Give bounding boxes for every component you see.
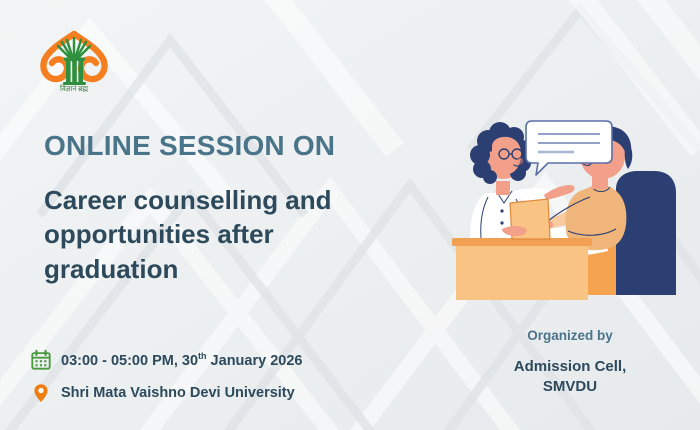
logo-motto: विज्ञानं ब्रह्म [60,84,88,92]
poster-canvas: विज्ञानं ब्रह्म ONLINE SESSION ON Career… [0,0,700,430]
event-venue: Shri Mata Vaishno Devi University [61,385,295,401]
event-datetime-suffix: January 2026 [207,352,303,368]
location-pin-icon [30,382,52,404]
event-datetime-prefix: 03:00 - 05:00 PM, 30 [61,352,198,368]
desk-shape [452,238,592,300]
event-date-ordinal: th [198,351,207,361]
armchair-shape [616,171,676,295]
career-counselling-illustration [440,105,690,310]
event-venue-row: Shri Mata Vaishno Devi University [30,379,302,406]
organizer-name-line1: Admission Cell, [430,357,700,377]
organizer-block: Organized by Admission Cell, SMVDU [430,328,700,398]
organizer-name-line2: SMVDU [430,377,700,397]
event-datetime: 03:00 - 05:00 PM, 30th January 2026 [61,351,302,369]
event-datetime-row: 03:00 - 05:00 PM, 30th January 2026 [30,346,302,373]
page-title: Career counselling and opportunities aft… [44,183,384,286]
organizer-name: Admission Cell, SMVDU [430,357,700,398]
event-details: 03:00 - 05:00 PM, 30th January 2026 Shri… [30,346,302,412]
smvdu-logo: विज्ञानं ब्रह्म [28,22,120,92]
organizer-label: Organized by [430,328,700,343]
calendar-icon [30,349,52,371]
page-kicker: ONLINE SESSION ON [44,131,335,162]
